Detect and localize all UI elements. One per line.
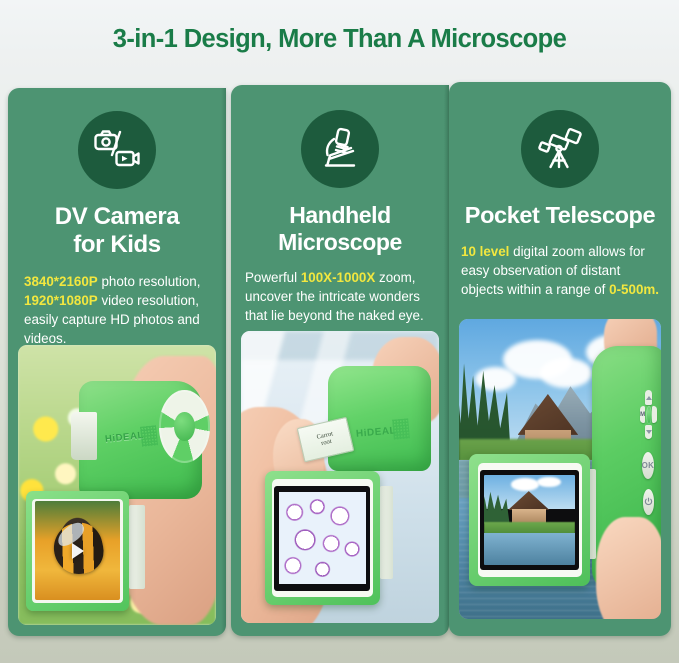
telescope-icon [521,110,599,188]
dpad-center-button [646,406,652,425]
play-icon [72,543,84,559]
feature-card-dv-camera: DV Camera for Kids 3840*2160P photo reso… [8,88,226,636]
hand-lower [596,517,661,619]
flip-screen [469,454,590,586]
screen-content-bee [35,501,119,600]
power-icon [643,489,655,515]
zoomed-landscape-preview [484,475,575,565]
screen-content-cells [274,486,370,591]
product-photo-dv-camera: HiDEAL [18,345,216,625]
product-photo-microscope: HiDEAL Carrot root [241,331,439,623]
spec-video-resolution: 1920*1080P [24,293,98,308]
right-button [652,406,657,423]
mode-button: M [640,406,645,423]
arrow-down-icon [645,425,652,440]
ok-button: OK [642,452,654,479]
arrow-up-icon [645,390,652,405]
feature-card-row: DV Camera for Kids 3840*2160P photo reso… [0,82,679,640]
card-heading-line-1: Pocket Telescope [465,202,655,228]
camera-video-icon [78,111,156,189]
product-photo-telescope: M OK [459,319,661,619]
card-body-text-1: Powerful [245,270,301,285]
spec-zoom-levels: 10 level [461,244,509,259]
card-heading-line-2: for Kids [73,231,160,258]
page-title: 3-in-1 Design, More Than A Microscope [0,0,679,53]
flip-screen [26,491,129,611]
card-heading-line-1: Handheld [289,202,391,228]
screen-content-landscape [480,470,579,570]
cloud [540,358,593,388]
card-heading-dv-camera: DV Camera for Kids [8,203,226,260]
camera-lens [71,412,97,460]
flip-screen [265,471,380,605]
cloud [475,367,515,391]
card-heading-telescope: Pocket Telescope [449,202,671,230]
card-body-telescope: 10 level digital zoom allows for easy ob… [461,242,671,299]
spec-zoom-range: 100X-1000X [301,270,375,285]
card-body-dv-camera: 3840*2160P photo resolution, 1920*1080P … [24,272,226,348]
control-wheel [159,390,210,463]
spec-photo-resolution: 3840*2160P [24,274,98,289]
magnified-cells [279,492,366,584]
card-heading-line-1: DV Camera [55,203,179,230]
card-heading-line-2: Microscope [278,229,402,255]
card-heading-microscope: Handheld Microscope [231,202,449,256]
card-body-microscope: Powerful 100X-1000X zoom, uncover the in… [245,268,449,325]
microscope-icon [301,110,379,188]
speaker-grill [140,425,158,446]
card-body-text-1: photo resolution, [98,274,201,289]
screen-hinge [380,486,394,579]
feature-card-telescope: Pocket Telescope 10 level digital zoom a… [449,82,671,636]
speaker-grill [393,418,411,440]
screen-hinge [129,505,145,589]
feature-card-microscope: Handheld Microscope Powerful 100X-1000X … [231,85,449,636]
slide-label-line-2: root [321,437,333,446]
spec-range: 0-500m. [609,282,659,297]
directional-pad: M [640,390,657,439]
